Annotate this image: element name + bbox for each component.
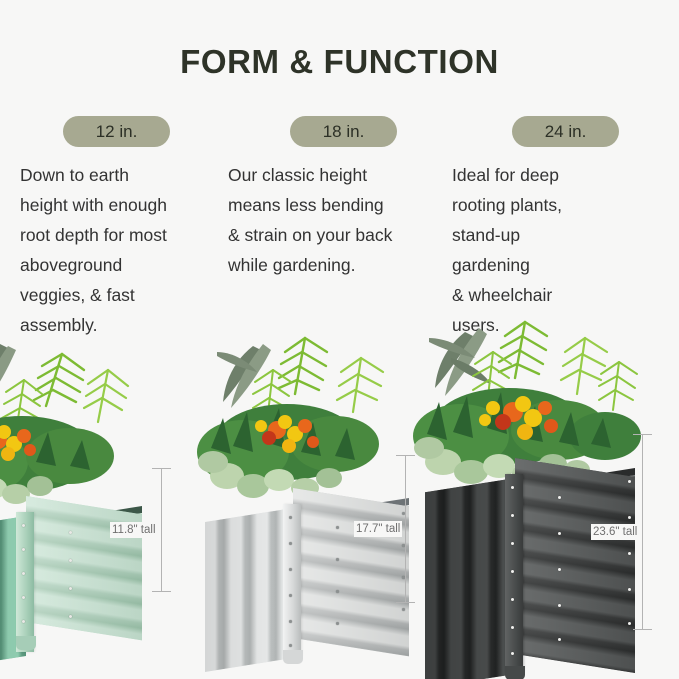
measurement-label-11-8: 11.8" tall xyxy=(110,522,158,538)
measure-line-23-6 xyxy=(642,434,643,630)
measure-line-11-8 xyxy=(161,468,162,592)
planter-sage-green xyxy=(0,320,164,660)
planter-front-panel-sage xyxy=(26,496,142,640)
planter-post-rivets-charcoal xyxy=(511,482,517,668)
planter-front-panel-charcoal xyxy=(515,458,635,673)
feature-column-18in: 18 in. Our classic height means less ben… xyxy=(228,116,438,280)
planter-right-seam-rivets-charcoal xyxy=(628,470,632,660)
height-badge-18in: 18 in. xyxy=(290,116,397,147)
feature-description-12in: Down to earth height with enough root de… xyxy=(20,160,220,340)
planter-foot-gray xyxy=(283,650,303,664)
product-infographic: FORM & FUNCTION 12 in. Down to earth hei… xyxy=(0,0,679,679)
feature-column-12in: 12 in. Down to earth height with enough … xyxy=(20,116,220,340)
measure-cap-bottom-11-8 xyxy=(152,591,171,592)
measure-cap-bottom-23-6 xyxy=(633,629,652,630)
planter-side-panel-charcoal xyxy=(425,478,515,679)
feature-description-18in: Our classic height means less bending & … xyxy=(228,160,438,280)
feature-description-24in: Ideal for deep rooting plants, stand-up … xyxy=(452,160,652,340)
planter-post-rivets-sage xyxy=(22,520,28,648)
planter-front-rivets-gray xyxy=(336,518,340,648)
planter-front-panel-gray xyxy=(293,488,409,656)
planter-post-rivets-gray xyxy=(289,512,295,654)
planter-front-rivets-charcoal xyxy=(558,488,562,664)
planter-front-rivets-sage xyxy=(69,525,73,635)
height-badge-12in: 12 in. xyxy=(63,116,170,147)
planter-foot-charcoal xyxy=(505,666,525,679)
planter-foot-sage xyxy=(16,636,36,650)
measurement-callout-11-8: 11.8" tall xyxy=(152,468,172,592)
measure-line-17-7 xyxy=(405,455,406,603)
page-title: FORM & FUNCTION xyxy=(0,42,679,82)
planter-comparison-scene: 11.8" tall 17.7" tall 23.6" tall xyxy=(0,320,679,679)
height-badge-24in: 24 in. xyxy=(512,116,619,147)
planter-galvanized-gray xyxy=(205,320,420,665)
measurement-callout-23-6: 23.6" tall xyxy=(633,434,653,630)
feature-column-24in: 24 in. Ideal for deep rooting plants, st… xyxy=(452,116,652,340)
measure-cap-bottom-17-7 xyxy=(396,602,415,603)
planter-side-panel-gray xyxy=(205,508,293,672)
measurement-label-23-6: 23.6" tall xyxy=(591,524,639,540)
planter-charcoal xyxy=(425,320,640,663)
measurement-callout-17-7: 17.7" tall xyxy=(396,455,416,603)
measurement-label-17-7: 17.7" tall xyxy=(354,521,402,537)
